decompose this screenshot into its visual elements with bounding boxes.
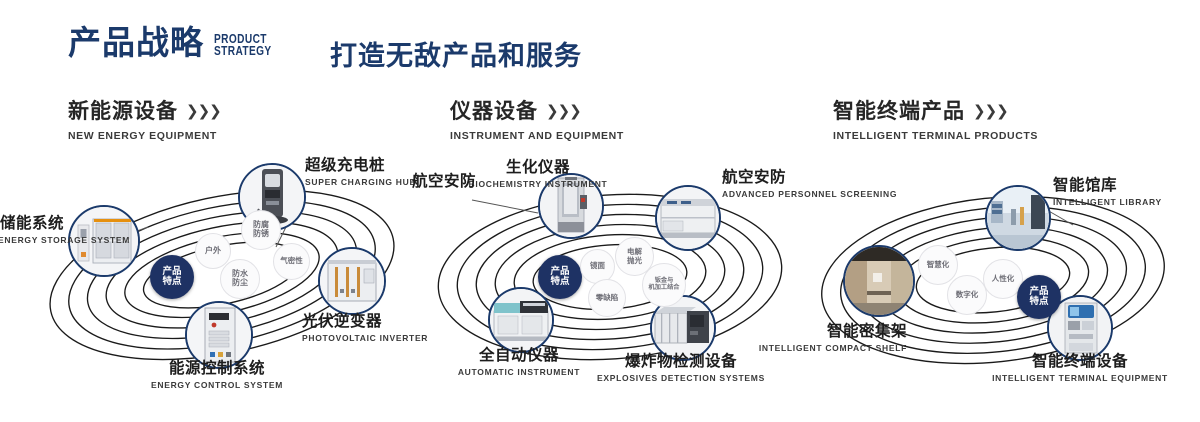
feature-waterproof-dustproof: 防水 防尘 bbox=[220, 259, 260, 299]
label-en: SUPER CHARGING HUB bbox=[305, 177, 416, 188]
node-intelligent-library[interactable] bbox=[985, 185, 1051, 251]
automatic-instrument-photo bbox=[490, 289, 552, 351]
feature-zero-defect: 零缺陷 bbox=[588, 279, 626, 317]
label-automatic-instrument: 全自动仪器 AUTOMATIC INSTRUMENT bbox=[408, 347, 630, 377]
feature-intelligentization: 智慧化 bbox=[918, 245, 958, 285]
feature-airtightness: 气密性 bbox=[273, 243, 310, 280]
section-heading-cn-text: 新能源设备 bbox=[68, 99, 178, 123]
feature-line1: 户外 bbox=[203, 247, 223, 256]
chevron-right-triple-icon: ❯❯❯ bbox=[546, 102, 581, 120]
section-heading-cn: 智能终端产品❯❯❯ bbox=[833, 95, 1038, 125]
label-en: BIOCHEMISTRY INSTRUMENT bbox=[458, 179, 618, 190]
label-cn: 生化仪器 bbox=[458, 159, 618, 177]
screening-machine-photo bbox=[657, 187, 719, 249]
label-en: INTELLIGENT LIBRARY bbox=[1053, 197, 1162, 208]
label-intelligent-terminal-equipment: 智能终端设备 INTELLIGENT TERMINAL EQUIPMENT bbox=[955, 353, 1200, 383]
label-en: ENERGY STORAGE SYSTEM bbox=[0, 235, 64, 246]
feature-sheetmetal-machining: 钣金与 机加工结合 bbox=[642, 263, 686, 307]
page-title-en-line2: STRATEGY bbox=[214, 45, 272, 57]
label-en: ENERGY CONTROL SYSTEM bbox=[88, 380, 346, 391]
feature-core-product-traits: 产品 特点 bbox=[538, 255, 582, 299]
section-heading-en: INSTRUMENT AND EQUIPMENT bbox=[450, 130, 624, 142]
core-line2: 特点 bbox=[548, 277, 571, 287]
feature-line1: 数字化 bbox=[954, 291, 981, 299]
page-title-en: PRODUCT STRATEGY bbox=[214, 33, 272, 57]
node-automatic-instrument[interactable] bbox=[488, 287, 554, 353]
section-heading-intelligent-terminal: 智能终端产品❯❯❯ INTELLIGENT TERMINAL PRODUCTS bbox=[833, 95, 1038, 142]
label-en: INTELLIGENT COMPACT SHELF bbox=[717, 343, 907, 354]
label-cn: 航空安防 bbox=[412, 173, 476, 191]
chevron-right-triple-icon: ❯❯❯ bbox=[186, 102, 221, 120]
label-cn: 能源控制系统 bbox=[88, 360, 346, 378]
label-energy-storage-system: 储能系统 ENERGY STORAGE SYSTEM bbox=[0, 215, 64, 245]
section-heading-instrument: 仪器设备❯❯❯ INSTRUMENT AND EQUIPMENT bbox=[450, 95, 624, 142]
label-cn: 智能密集架 bbox=[717, 323, 907, 341]
label-cn: 储能系统 bbox=[0, 215, 64, 233]
label-en: INTELLIGENT TERMINAL EQUIPMENT bbox=[955, 373, 1200, 384]
label-intelligent-compact-shelf: 智能密集架 INTELLIGENT COMPACT SHELF bbox=[717, 323, 907, 353]
section-heading-en: INTELLIGENT TERMINAL PRODUCTS bbox=[833, 130, 1038, 142]
library-interior-photo bbox=[987, 187, 1049, 249]
page-title-cn: 产品战略 bbox=[68, 26, 204, 59]
feature-line1: 智慧化 bbox=[925, 261, 952, 269]
label-biochemistry-instrument: 生化仪器 BIOCHEMISTRY INSTRUMENT bbox=[458, 159, 618, 189]
section-heading-cn: 新能源设备❯❯❯ bbox=[68, 95, 221, 125]
label-super-charging-hub: 超级充电桩 SUPER CHARGING HUB bbox=[305, 157, 416, 187]
feature-core-product-traits: 产品 特点 bbox=[1017, 275, 1061, 319]
section-heading-new-energy: 新能源设备❯❯❯ NEW ENERGY EQUIPMENT bbox=[68, 95, 221, 142]
cluster-new-energy-equipment: 储能系统 ENERGY STORAGE SYSTEM 超级充电桩 SUPER C… bbox=[30, 155, 430, 405]
feature-line1: 零缺陷 bbox=[594, 294, 621, 302]
feature-line2: 抛光 bbox=[625, 257, 644, 265]
feature-line1: 气密性 bbox=[278, 257, 305, 265]
core-line2: 特点 bbox=[160, 277, 183, 287]
cluster-intelligent-terminal-products: 智能馆库 INTELLIGENT LIBRARY 智能密集架 INTELLIGE… bbox=[795, 155, 1195, 405]
chevron-right-triple-icon: ❯❯❯ bbox=[973, 102, 1008, 120]
core-line2: 特点 bbox=[1027, 297, 1050, 307]
node-photovoltaic-inverter[interactable] bbox=[318, 247, 386, 315]
control-cabinet-photo bbox=[187, 303, 251, 367]
product-strategy-infographic: 产品战略 PRODUCT STRATEGY 打造无敌产品和服务 新能源设备❯❯❯… bbox=[0, 0, 1200, 422]
label-intelligent-library: 智能馆库 INTELLIGENT LIBRARY bbox=[1053, 177, 1162, 207]
feature-line2: 防尘 bbox=[230, 279, 250, 288]
feature-anticorrosion: 防腐 防锈 bbox=[241, 210, 281, 250]
label-energy-control-system: 能源控制系统 ENERGY CONTROL SYSTEM bbox=[88, 360, 346, 390]
section-heading-en: NEW ENERGY EQUIPMENT bbox=[68, 130, 221, 142]
feature-line1: 人性化 bbox=[990, 275, 1017, 283]
compact-shelf-photo bbox=[845, 247, 913, 315]
node-intelligent-compact-shelf[interactable] bbox=[843, 245, 915, 317]
feature-line2: 防锈 bbox=[251, 230, 271, 239]
feature-line1: 镜面 bbox=[588, 262, 607, 270]
section-heading-cn-text: 智能终端产品 bbox=[833, 99, 965, 123]
label-cn: 超级充电桩 bbox=[305, 157, 416, 175]
label-en: AUTOMATIC INSTRUMENT bbox=[408, 367, 630, 378]
page-slogan: 打造无敌产品和服务 bbox=[330, 34, 582, 73]
page-title: 产品战略 PRODUCT STRATEGY bbox=[68, 26, 288, 59]
inverter-cabinet-photo bbox=[320, 249, 384, 313]
node-advanced-personnel-screening[interactable] bbox=[655, 185, 721, 251]
section-heading-cn-text: 仪器设备 bbox=[450, 99, 538, 123]
label-cn: 全自动仪器 bbox=[408, 347, 630, 365]
feature-line2: 机加工结合 bbox=[647, 285, 682, 292]
feature-core-product-traits: 产品 特点 bbox=[150, 255, 194, 299]
section-heading-cn: 仪器设备❯❯❯ bbox=[450, 95, 624, 125]
cluster-instrument-and-equipment: 生化仪器 BIOCHEMISTRY INSTRUMENT 航空安防 航空安防 A… bbox=[410, 155, 810, 405]
label-cn: 智能终端设备 bbox=[955, 353, 1200, 371]
label-aviation-security-aux: 航空安防 bbox=[412, 173, 476, 191]
feature-digitalization: 数字化 bbox=[947, 275, 987, 315]
label-cn: 智能馆库 bbox=[1053, 177, 1162, 195]
